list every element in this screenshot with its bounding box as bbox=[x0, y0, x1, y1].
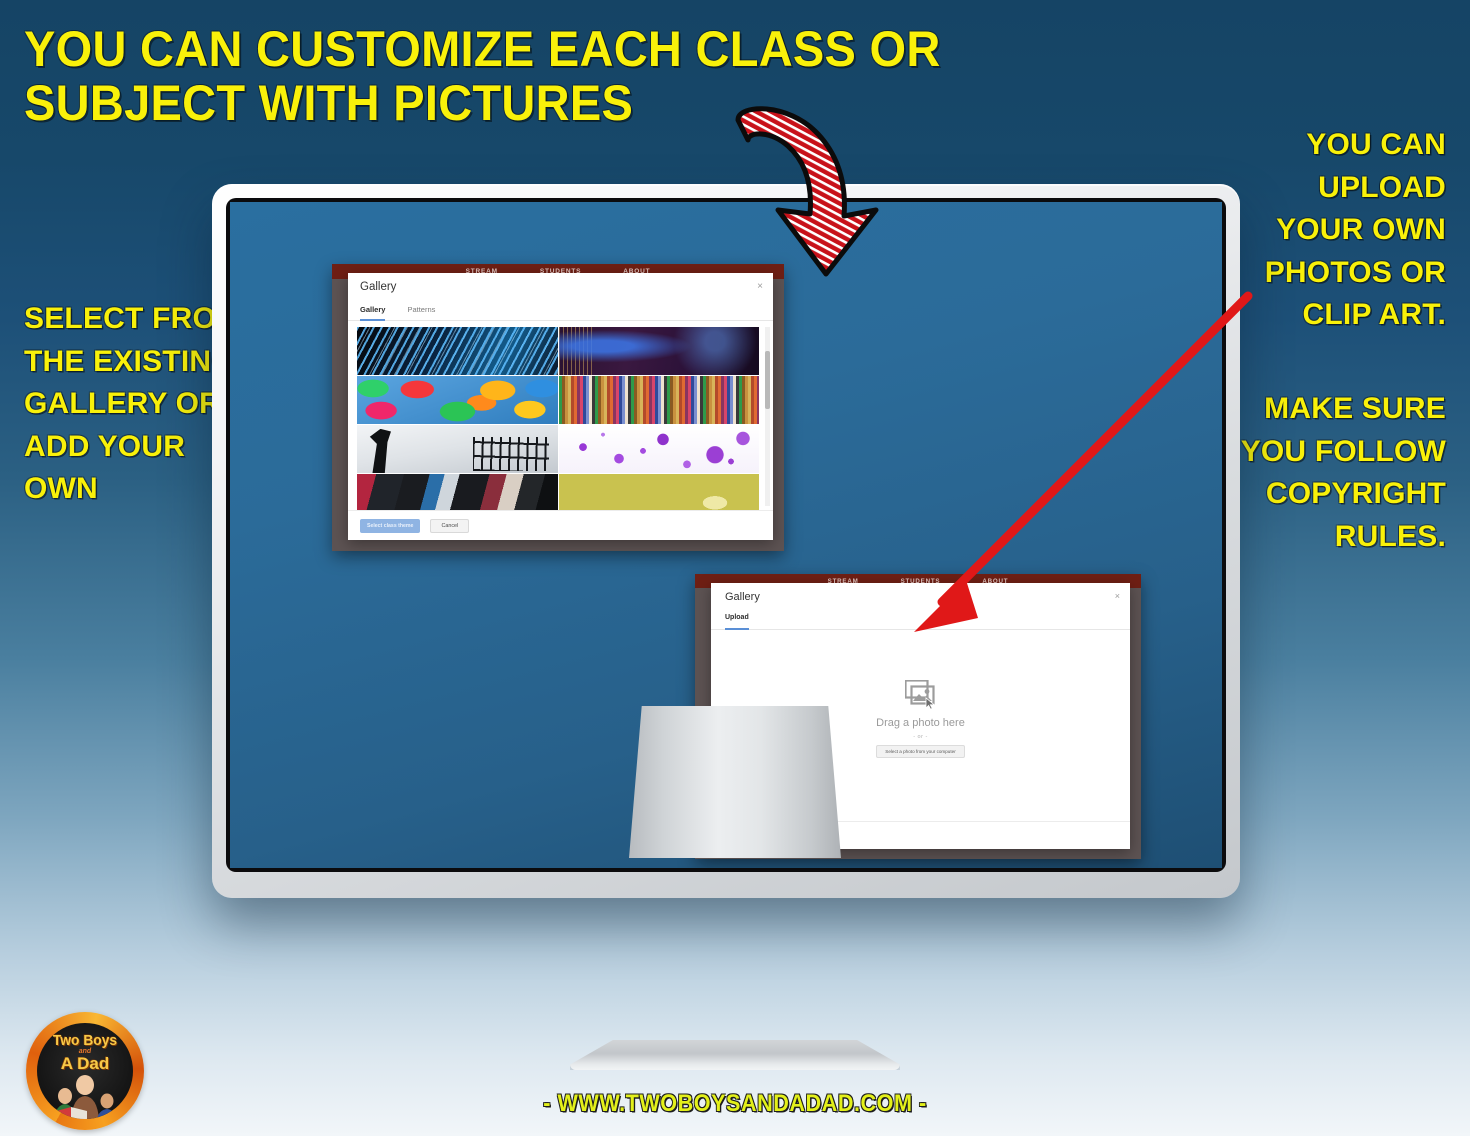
monitor-stand-base bbox=[570, 1040, 900, 1070]
footer-website-url[interactable]: - WWW.TWOBOYSANDADAD.COM - bbox=[74, 1090, 1397, 1118]
gallery-thumb-blue-crystals[interactable] bbox=[357, 327, 558, 375]
callout-right-line-1: YOU CAN bbox=[1216, 124, 1446, 167]
gallery-thumb-candy-pills[interactable] bbox=[357, 376, 558, 424]
gallery-dialog-body bbox=[348, 321, 773, 510]
headline-line-1: YOU CAN CUSTOMIZE EACH CLASS OR bbox=[24, 22, 1039, 76]
curved-down-arrow-icon bbox=[726, 98, 896, 283]
classroom-window-gallery: STREAM STUDENTS ABOUT Gallery × Gallery … bbox=[332, 264, 784, 551]
dropzone-label: Drag a photo here bbox=[876, 717, 965, 729]
select-photo-from-computer-button[interactable]: Select a photo from your computer bbox=[876, 745, 964, 758]
cancel-button[interactable]: Cancel bbox=[430, 519, 469, 533]
dropzone-or-separator: - or - bbox=[913, 734, 928, 740]
gallery-dialog-titlebar: Gallery × bbox=[348, 273, 773, 301]
gallery-dialog-footer: Select class theme Cancel bbox=[348, 510, 773, 540]
tab-upload[interactable]: Upload bbox=[725, 610, 749, 629]
callout-right-line-3: YOUR OWN bbox=[1216, 209, 1446, 252]
close-icon[interactable]: × bbox=[757, 282, 763, 292]
gallery-thumb-purple-bubbles[interactable] bbox=[559, 425, 760, 473]
logo-text-two-boys: Two Boys bbox=[41, 1032, 129, 1049]
tab-patterns[interactable]: Patterns bbox=[407, 301, 435, 320]
monitor-stand-neck bbox=[629, 706, 841, 858]
tab-gallery[interactable]: Gallery bbox=[360, 301, 385, 320]
gallery-scrollbar-thumb[interactable] bbox=[765, 351, 770, 409]
gallery-thumb-yellow-tubes[interactable] bbox=[559, 474, 760, 510]
select-class-theme-button[interactable]: Select class theme bbox=[360, 519, 420, 533]
photo-placeholder-icon bbox=[905, 680, 937, 708]
gallery-dialog-title: Gallery bbox=[360, 281, 396, 293]
gallery-thumb-gym-hoop[interactable] bbox=[357, 425, 558, 473]
callout-right-line-2: UPLOAD bbox=[1216, 167, 1446, 210]
gallery-dialog-tabs: Gallery Patterns bbox=[348, 301, 773, 321]
upload-dialog-title: Gallery bbox=[725, 591, 760, 603]
gallery-thumb-fabric-detail[interactable] bbox=[357, 474, 558, 510]
gallery-thumbnail-grid bbox=[357, 327, 759, 510]
straight-arrow-to-upload-icon bbox=[890, 280, 1270, 660]
gallery-dialog: Gallery × Gallery Patterns bbox=[348, 273, 773, 540]
gallery-thumb-music-performer[interactable] bbox=[559, 327, 760, 375]
gallery-thumb-yarn-stripes[interactable] bbox=[559, 376, 760, 424]
